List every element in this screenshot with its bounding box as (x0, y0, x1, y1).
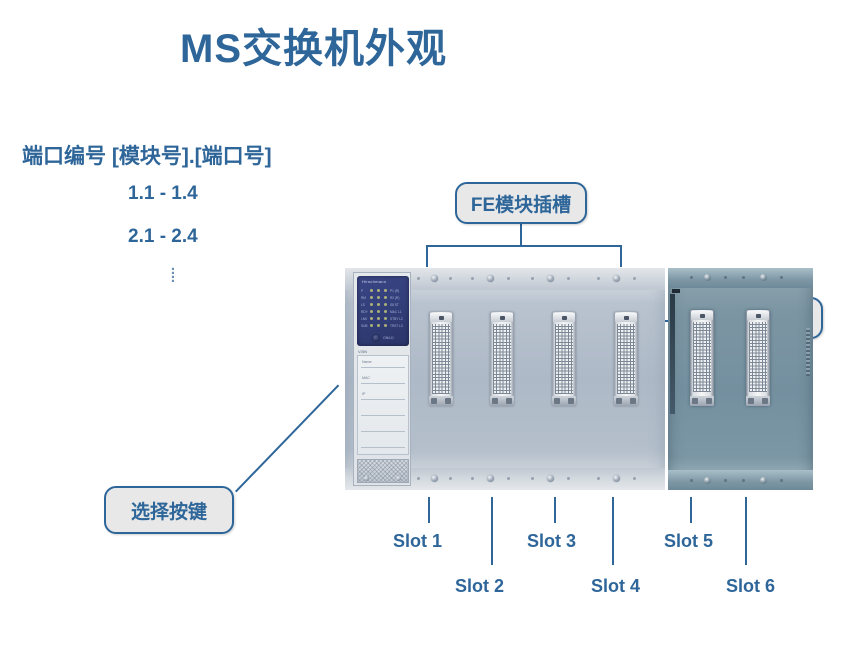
label-field-mac: MAC (362, 376, 370, 380)
chassis-pin (567, 277, 570, 280)
module2-marker-bar (672, 289, 680, 293)
slot-3-leader (554, 497, 556, 523)
led-row: RDY MAC L1 (361, 309, 405, 316)
led-dot (384, 289, 387, 292)
module2-screw (704, 477, 711, 484)
led-row: RM R2 (R) (361, 295, 405, 302)
chassis-pin (597, 477, 600, 480)
label-rule (361, 431, 405, 432)
select-button-leader (235, 385, 339, 493)
callout-select-button[interactable]: 选择按键 (104, 486, 234, 534)
control-module: Hirschmann P P1 (R) RM (353, 272, 411, 486)
device-chassis: Hirschmann P P1 (R) RM (345, 268, 665, 490)
connector-nub (756, 314, 761, 318)
led-dot (384, 296, 387, 299)
slot-label-5: Slot 5 (664, 531, 713, 552)
fe-connector-slot-4 (614, 312, 638, 406)
callout-fe-module-slot[interactable]: FE模块插槽 (455, 182, 587, 224)
module2-screw (704, 274, 711, 281)
led-dot (377, 317, 380, 320)
led-dot (370, 303, 373, 306)
callout-fe-label: FE模块插槽 (471, 190, 571, 217)
led-row-left-label: P (361, 289, 363, 293)
slot-label-3: Slot 3 (527, 531, 576, 552)
slot-label-4: Slot 4 (591, 576, 640, 597)
label-field-name: Name (362, 360, 372, 364)
connector-head (553, 313, 575, 322)
led-row-left-label: LNK (361, 317, 367, 321)
led-dot (377, 303, 380, 306)
connector-head (430, 313, 452, 322)
connector-latch (445, 398, 451, 404)
chassis-pin (531, 277, 534, 280)
fe-bracket-tick-right (620, 245, 622, 267)
module2-screw (760, 477, 767, 484)
mesh-screw (364, 476, 369, 481)
callout-select-label: 选择按键 (131, 497, 207, 524)
led-row: P P1 (R) (361, 288, 405, 295)
connector-latch (706, 398, 712, 404)
chassis-pin (417, 277, 420, 280)
ventilation-mesh (357, 459, 409, 483)
module2-pin (724, 479, 727, 482)
slot-6-leader (745, 497, 747, 565)
select-button-text: ON/LD (383, 336, 394, 340)
mesh-screw (396, 476, 401, 481)
chassis-pin (597, 277, 600, 280)
chassis-screw (547, 275, 554, 282)
led-row-left-label: LS (361, 303, 365, 307)
led-dot (377, 296, 380, 299)
port-range-1: 1.1 - 1.4 (128, 183, 198, 205)
fe-bracket-bar (426, 245, 622, 247)
connector-pin-array (555, 324, 573, 394)
led-dot (370, 324, 373, 327)
chassis-pin (507, 477, 510, 480)
device-label-area: Name MAC IP (357, 355, 409, 455)
chassis-pin (531, 477, 534, 480)
module2-pin (742, 276, 745, 279)
fe-connector-slot-6 (746, 310, 770, 406)
led-dot (384, 324, 387, 327)
chassis-screw (431, 275, 438, 282)
brand-label: Hirschmann (362, 279, 408, 286)
led-row-right-label: R2 (R) (390, 296, 399, 300)
label-field-ip: IP (362, 392, 365, 396)
chassis-screw (613, 275, 620, 282)
connector-nub (700, 314, 705, 318)
connector-pin-array (617, 324, 635, 394)
label-rule (361, 447, 405, 448)
fe-connector-slot-5 (690, 310, 714, 406)
slot-label-6: Slot 6 (726, 576, 775, 597)
connector-pin-array (693, 322, 711, 392)
connector-pin-array (493, 324, 511, 394)
led-row: LS S8 ST (361, 302, 405, 309)
led-dot (370, 289, 373, 292)
chassis-pin (633, 277, 636, 280)
led-dot (377, 324, 380, 327)
label-rule (361, 399, 405, 400)
connector-nub (562, 316, 567, 320)
connector-latch (492, 398, 498, 404)
connector-pin-array (432, 324, 450, 394)
led-row-right-label: STBY L2 (390, 317, 403, 321)
connector-head (747, 311, 769, 320)
chassis-pin (417, 477, 420, 480)
chassis-pin (567, 477, 570, 480)
connector-latch (762, 398, 768, 404)
fe-callout-stem (520, 224, 522, 246)
led-status-panel: Hirschmann P P1 (R) RM (357, 276, 409, 346)
led-dot (377, 310, 380, 313)
module2-left-strip (670, 294, 675, 414)
connector-head (615, 313, 637, 322)
chassis-pin (471, 277, 474, 280)
connector-latch (554, 398, 560, 404)
led-dot (384, 310, 387, 313)
connector-nub (500, 316, 505, 320)
module2-pin (724, 276, 727, 279)
version-text: V.BN (358, 349, 367, 354)
chassis-pin (633, 477, 636, 480)
led-row-right-label: TRST L3 (390, 324, 403, 328)
connector-latch (568, 398, 574, 404)
chassis-pin (507, 277, 510, 280)
fe-connector-slot-2 (490, 312, 514, 406)
connector-latch (630, 398, 636, 404)
chassis-screw (487, 275, 494, 282)
module2-pin (690, 479, 693, 482)
connector-latch (748, 398, 754, 404)
connector-latch (616, 398, 622, 404)
slot-1-leader (428, 497, 430, 523)
switch-device-image: Hirschmann P P1 (R) RM (345, 268, 813, 490)
chassis-screw (547, 475, 554, 482)
slot-4-leader (612, 497, 614, 565)
led-dot (370, 296, 373, 299)
second-module (668, 268, 813, 490)
led-row-right-label: MAC L1 (390, 310, 402, 314)
connector-latch (692, 398, 698, 404)
fe-bracket-tick-left (426, 245, 428, 267)
connector-pin-array (749, 322, 767, 392)
module2-screw (760, 274, 767, 281)
led-row-right-label: P1 (R) (390, 289, 399, 293)
select-button-hardware[interactable] (373, 335, 379, 341)
chassis-pin (449, 477, 452, 480)
module2-pin (780, 276, 783, 279)
chassis-pin (471, 477, 474, 480)
page-title: MS交换机外观 (180, 16, 700, 74)
slot-5-leader (690, 497, 692, 523)
vertical-ellipsis-icon: .... (168, 264, 178, 280)
connector-nub (439, 316, 444, 320)
slide-canvas: MS交换机外观 端口编号 [模块号].[端口号] 1.1 - 1.4 2.1 -… (0, 0, 852, 662)
led-row-left-label: RDY (361, 310, 368, 314)
slot-2-leader (491, 497, 493, 565)
chassis-pin (449, 277, 452, 280)
connector-head (491, 313, 513, 322)
module2-right-strip (806, 328, 810, 376)
led-row-left-label: RM (361, 296, 366, 300)
connector-head (691, 311, 713, 320)
connector-nub (624, 316, 629, 320)
led-row: LNK STBY L2 (361, 316, 405, 323)
led-dot (370, 310, 373, 313)
port-numbering-heading: 端口编号 [模块号].[端口号] (22, 140, 272, 170)
led-row-left-label: SUB (361, 324, 368, 328)
label-rule (361, 415, 405, 416)
chassis-screw (613, 475, 620, 482)
module2-pin (742, 479, 745, 482)
led-dot (370, 317, 373, 320)
led-row-right-label: S8 ST (390, 303, 399, 307)
module2-pin (690, 276, 693, 279)
label-rule (361, 367, 405, 368)
chassis-screw (431, 475, 438, 482)
led-dot (384, 317, 387, 320)
label-rule (361, 383, 405, 384)
fe-connector-slot-1 (429, 312, 453, 406)
led-dot (377, 289, 380, 292)
connector-latch (506, 398, 512, 404)
fe-connector-slot-3 (552, 312, 576, 406)
led-row: SUB TRST L3 (361, 323, 405, 330)
led-dot (384, 303, 387, 306)
slot-label-2: Slot 2 (455, 576, 504, 597)
led-indicator-grid: P P1 (R) RM R2 (R) (361, 288, 405, 332)
chassis-screw (487, 475, 494, 482)
module2-pin (780, 479, 783, 482)
connector-latch (431, 398, 437, 404)
port-range-2: 2.1 - 2.4 (128, 226, 198, 248)
slot-label-1: Slot 1 (393, 531, 442, 552)
